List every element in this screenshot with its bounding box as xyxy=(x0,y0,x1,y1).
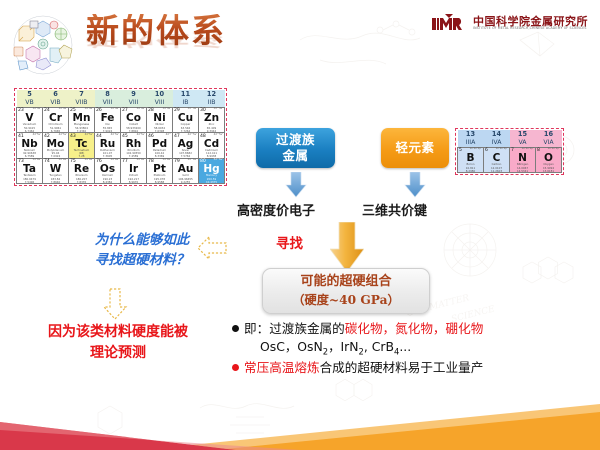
periodic-row: 233d³4s²VVanadium50.94156.7462243d⁵4s¹Cr… xyxy=(17,107,225,133)
element-config: 3d⁶4s² xyxy=(111,108,119,111)
element-cell-Co[interactable]: 273d⁷4s²CoCobalt58.9332007.8810 xyxy=(121,107,147,133)
group-header-6: 6VIB xyxy=(43,90,69,107)
chemical-formula: OsC xyxy=(260,339,285,354)
group-header-8: 8VIII xyxy=(95,90,121,107)
answer-line2: 理论预测 xyxy=(12,343,224,364)
element-config: 4d¹⁰ xyxy=(166,134,171,137)
element-config: 4d⁵5s¹ xyxy=(59,134,67,137)
element-name: Iridium192.2178.9670 xyxy=(121,174,146,184)
element-config: 4d¹⁰5s² xyxy=(214,134,223,137)
bullet-dot-black xyxy=(232,325,239,332)
element-config: 1s²2s²2p² xyxy=(496,148,508,151)
element-cell-Nb[interactable]: 414d⁴5s¹NbNiobium92.906386.7589 xyxy=(17,133,43,159)
element-config: 3d¹⁰4s¹ xyxy=(188,108,197,111)
arrow-down-dashed-gold-icon xyxy=(101,287,129,321)
crystal-structures-circle-logo xyxy=(6,14,80,76)
svg-text:MATTER: MATTER xyxy=(427,293,470,313)
element-cell-Ta[interactable]: 735d³6s²TaTantalum180.94797.5496 xyxy=(17,158,43,184)
element-config: 1s²2s²2p⁴ xyxy=(548,148,560,151)
group-header-13: 13IIIA xyxy=(458,130,484,147)
element-config: 4d⁴5s¹ xyxy=(33,134,41,137)
bullet-segment: 碳化物，氮化物，硼化物 xyxy=(345,321,484,336)
callout-transition-metals-line2: 金属 xyxy=(276,148,315,164)
imr-mark-icon xyxy=(432,14,468,32)
element-cell-Pt[interactable]: 785d⁹6s¹PtPlatinum195.0788.9588 xyxy=(147,158,173,184)
element-config: 5d⁴6s² xyxy=(59,159,67,162)
chemical-formula: ... xyxy=(399,339,411,354)
element-cell-Os[interactable]: 765d⁶6s²OsOsmium190.238.4382 xyxy=(95,158,121,184)
element-config: 3d¹⁰4s² xyxy=(214,108,223,111)
bullet-text: 常压高温熔炼合成的超硬材料易于工业量产 xyxy=(244,359,483,377)
element-config: 5d³6s² xyxy=(33,159,41,162)
element-name: Rhenium186.2077.8335 xyxy=(69,174,94,184)
element-cell-Zn[interactable]: 303d¹⁰4s²ZnZinc65.4099.3942 xyxy=(199,107,225,133)
arrow-left-dashed-gold-icon xyxy=(196,235,228,261)
element-cell-O[interactable]: 81s²2s²2p⁴OOxygen15.999413.6181 xyxy=(536,147,562,173)
element-config: 5d¹⁰6s² xyxy=(214,159,223,162)
callout-transition-metals-line1: 过渡族 xyxy=(276,132,315,148)
arrow-down-gold-large-icon xyxy=(330,222,364,274)
caption-high-valence-electron-density: 高密度价电子 xyxy=(237,200,315,219)
element-name: Gold196.966559.2255 xyxy=(173,174,198,184)
periodic-row: 51s²2s²2p¹BBoron10.8118.298061s²2s²2p²CC… xyxy=(458,147,562,173)
result-box-superhard-combination[interactable]: 可能的超硬组合 （硬度~40 GPa） xyxy=(262,268,430,314)
light-elements-table[interactable]: 13IIIA14IVA15VA16VIA51s²2s²2p¹BBoron10.8… xyxy=(455,128,564,175)
bullet-segment: 合成的超硬材料易于工业量产 xyxy=(320,360,484,375)
callout-light-elements[interactable]: 轻元素 xyxy=(381,128,449,168)
element-config: 5d⁹6s¹ xyxy=(163,159,171,162)
element-cell-Ru[interactable]: 444d⁷5s¹RuRuthenium101.077.3605 xyxy=(95,133,121,159)
answer-theory-prediction: 因为该类材料硬度能被 理论预测 xyxy=(12,322,224,364)
arrow-down-blue-left-icon xyxy=(285,172,307,198)
element-config: 3d⁵4s¹ xyxy=(59,108,67,111)
bottom-decorative-band xyxy=(0,378,600,450)
element-name: Oxygen15.999413.6181 xyxy=(536,163,561,173)
element-cell-Au[interactable]: 795d¹⁰6s¹AuGold196.966559.2255 xyxy=(173,158,199,184)
element-config: 5d⁵6s² xyxy=(85,159,93,162)
caption-3d-covalent-bond: 三维共价键 xyxy=(362,200,427,219)
page-title: 新的体系 xyxy=(86,14,226,47)
element-cell-N[interactable]: 71s²2s²2p³NNitrogen14.006714.5341 xyxy=(510,147,536,173)
element-cell-Cu[interactable]: 293d¹⁰4s¹CuCopper63.5467.7264 xyxy=(173,107,199,133)
element-cell-Tc[interactable]: 434d⁵5s²TcTechnetium(98)7.28 xyxy=(69,133,95,159)
element-config: 3d⁷4s² xyxy=(137,108,145,111)
element-config: 3d³4s² xyxy=(33,108,41,111)
element-cell-W[interactable]: 745d⁴6s²WTungsten183.847.8640 xyxy=(43,158,69,184)
element-name: Mercury200.5910.4375 xyxy=(199,174,224,184)
element-cell-B[interactable]: 51s²2s²2p¹BBoron10.8118.2980 xyxy=(458,147,484,173)
element-cell-Cd[interactable]: 484d¹⁰5s²CdCadmium112.4118.9938 xyxy=(199,133,225,159)
element-config: 4d⁸5s¹ xyxy=(137,134,145,137)
element-cell-Ag[interactable]: 474d¹⁰5s¹AgSilver107.86827.5762 xyxy=(173,133,199,159)
element-config: 1s²2s²2p¹ xyxy=(470,148,482,151)
institute-name-en: INSTITUTE OF METAL RESEARCH,CHINESE ACAD… xyxy=(473,27,588,30)
element-cell-Mn[interactable]: 253d⁵4s²MnManganese54.938047.4340 xyxy=(69,107,95,133)
slide-canvas: MATTER SCIENCE 新的体系 新的体系 xyxy=(0,0,600,450)
element-cell-Re[interactable]: 755d⁵6s²ReRhenium186.2077.8335 xyxy=(69,158,95,184)
group-header-11: 11IB xyxy=(173,90,199,107)
transition-metals-table[interactable]: 5VB6VIB7VIIB8VIII9VIII10VIII11IB12IIB233… xyxy=(14,88,227,186)
element-cell-Ir[interactable]: 775d⁷6s²IrIridium192.2178.9670 xyxy=(121,158,147,184)
group-header-10: 10VIII xyxy=(147,90,173,107)
group-header-16: 16VIA xyxy=(536,130,562,147)
element-name: Platinum195.0788.9588 xyxy=(147,174,172,184)
element-cell-Hg[interactable]: 805d¹⁰6s²HgMercury200.5910.4375 xyxy=(199,158,225,184)
bullet-text: 即：过渡族金属的碳化物，氮化物，硼化物 xyxy=(244,320,483,338)
bullet-segment: 常压高温熔炼 xyxy=(244,360,320,375)
callout-light-elements-line1: 轻元素 xyxy=(395,140,434,156)
element-cell-Mo[interactable]: 424d⁵5s¹MoMolybdenum95.947.0924 xyxy=(43,133,69,159)
element-cell-Rh[interactable]: 454d⁸5s¹RhRhodium102.905507.4589 xyxy=(121,133,147,159)
element-config: 3d⁵4s² xyxy=(85,108,93,111)
group-header-14: 14IVA xyxy=(484,130,510,147)
element-config: 4d¹⁰5s¹ xyxy=(188,134,197,137)
label-seek: 寻找 xyxy=(276,232,303,252)
element-config: 5d⁶6s² xyxy=(111,159,119,162)
element-config: 1s²2s²2p³ xyxy=(522,148,534,151)
element-name: Tantalum180.94797.5496 xyxy=(17,174,42,184)
element-config: 5d¹⁰6s¹ xyxy=(188,159,197,162)
chemical-formula: ，IrN2 xyxy=(328,339,364,354)
bullet-item: 即：过渡族金属的碳化物，氮化物，硼化物OsC，OsN2，IrN2, CrB4..… xyxy=(232,320,594,358)
arrow-down-blue-right-icon xyxy=(404,172,426,198)
chemical-formula-list: OsC，OsN2，IrN2, CrB4... xyxy=(244,338,483,358)
group-header-9: 9VIII xyxy=(121,90,147,107)
bullet-dot-red xyxy=(232,364,239,371)
result-box-line1: 可能的超硬组合 xyxy=(300,273,391,292)
element-name: Nitrogen14.006714.5341 xyxy=(510,163,535,173)
element-config: 4d⁵5s² xyxy=(85,134,93,137)
group-header-5: 5VB xyxy=(17,90,43,107)
element-config: 3d⁸4s² xyxy=(163,108,171,111)
chemical-formula: , CrB4 xyxy=(364,339,399,354)
periodic-row: 735d³6s²TaTantalum180.94797.5496745d⁴6s²… xyxy=(17,158,225,184)
element-cell-V[interactable]: 233d³4s²VVanadium50.94156.7462 xyxy=(17,107,43,133)
bullet-segment: 即：过渡族金属的 xyxy=(244,321,345,336)
group-header-15: 15VA xyxy=(510,130,536,147)
element-cell-Pd[interactable]: 464d¹⁰PdPalladium106.428.3369 xyxy=(147,133,173,159)
element-cell-Ni[interactable]: 283d⁸4s²NiNickel58.69347.6398 xyxy=(147,107,173,133)
callout-transition-metals[interactable]: 过渡族 金属 xyxy=(256,128,335,168)
element-cell-Cr[interactable]: 243d⁵4s¹CrChromium51.99616.7665 xyxy=(43,107,69,133)
element-cell-Fe[interactable]: 263d⁶4s²FeIron55.8457.9024 xyxy=(95,107,121,133)
periodic-row: 414d⁴5s¹NbNiobium92.906386.7589424d⁵5s¹M… xyxy=(17,133,225,159)
element-cell-C[interactable]: 61s²2s²2p²CCarbon12.010711.2603 xyxy=(484,147,510,173)
bullet-item: 常压高温熔炼合成的超硬材料易于工业量产 xyxy=(232,359,594,377)
institute-logo: 中国科学院金属研究所 INSTITUTE OF METAL RESEARCH,C… xyxy=(432,10,588,36)
bullet-list: 即：过渡族金属的碳化物，氮化物，硼化物OsC，OsN2，IrN2, CrB4..… xyxy=(232,320,594,377)
chemical-formula: ，OsN2 xyxy=(285,339,328,354)
element-config: 4d⁷5s¹ xyxy=(111,134,119,137)
element-config: 5d⁷6s² xyxy=(137,159,145,162)
answer-line1: 因为该类材料硬度能被 xyxy=(12,322,224,343)
element-name: Carbon12.010711.2603 xyxy=(484,163,509,173)
group-header-7: 7VIIB xyxy=(69,90,95,107)
element-name: Osmium190.238.4382 xyxy=(95,174,120,184)
result-box-line2: （硬度~40 GPa） xyxy=(292,292,399,310)
element-name: Boron10.8118.2980 xyxy=(458,163,483,173)
group-header-12: 12IIB xyxy=(199,90,225,107)
element-name: Tungsten183.847.8640 xyxy=(43,174,68,184)
